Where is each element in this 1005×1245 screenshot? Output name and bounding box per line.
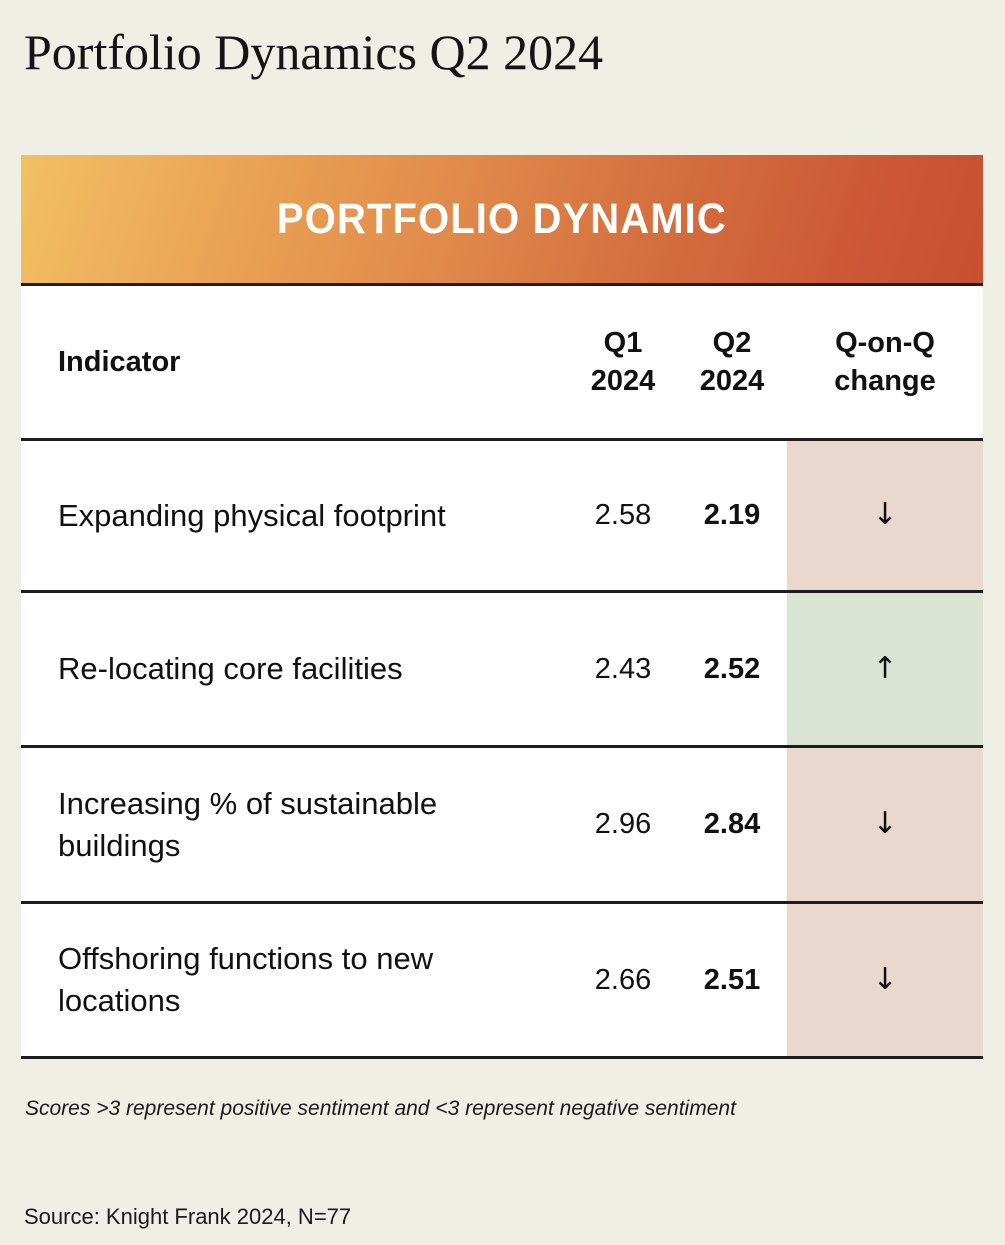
table-body: Expanding physical footprint 2.58 2.19 ↓… (21, 440, 983, 1058)
cell-indicator: Offshoring functions to new locations (21, 903, 569, 1058)
column-header-change-line2: change (787, 362, 983, 400)
column-header-q2-2024: Q2 2024 (677, 286, 787, 440)
column-header-change-line1: Q-on-Q (787, 324, 983, 362)
column-header-q2-line1: Q2 (677, 324, 787, 362)
source-text: Source: Knight Frank 2024, N=77 (24, 1204, 351, 1230)
table-header-row: Indicator Q1 2024 Q2 2024 Q-on-Q change (21, 286, 983, 440)
page-title: Portfolio Dynamics Q2 2024 (24, 22, 603, 82)
cell-qonq-change: ↓ (787, 903, 983, 1058)
cell-qonq-change: ↓ (787, 440, 983, 592)
portfolio-dynamic-table: Indicator Q1 2024 Q2 2024 Q-on-Q change … (21, 286, 983, 1059)
column-header-q2-line2: 2024 (677, 362, 787, 400)
cell-q2-2024: 2.51 (677, 903, 787, 1058)
table-row: Re-locating core facilities 2.43 2.52 ↑ (21, 592, 983, 747)
cell-q2-2024: 2.19 (677, 440, 787, 592)
column-header-q1-line1: Q1 (569, 324, 677, 362)
banner-title: PORTFOLIO DYNAMIC (277, 195, 727, 244)
arrow-down-icon: ↓ (872, 965, 897, 995)
column-header-qonq-change: Q-on-Q change (787, 286, 983, 440)
portfolio-dynamic-table-container: PORTFOLIO DYNAMIC Indicator Q1 2024 Q2 2… (21, 155, 983, 1059)
column-header-q1-line2: 2024 (569, 362, 677, 400)
cell-q2-2024: 2.52 (677, 592, 787, 747)
cell-q1-2024: 2.96 (569, 747, 677, 903)
cell-indicator: Increasing % of sustainable buildings (21, 747, 569, 903)
table-row: Expanding physical footprint 2.58 2.19 ↓ (21, 440, 983, 592)
cell-indicator: Re-locating core facilities (21, 592, 569, 747)
arrow-down-icon: ↓ (872, 500, 897, 530)
column-header-q1-2024: Q1 2024 (569, 286, 677, 440)
cell-q2-2024: 2.84 (677, 747, 787, 903)
table-banner: PORTFOLIO DYNAMIC (21, 155, 983, 286)
cell-q1-2024: 2.66 (569, 903, 677, 1058)
table-row: Increasing % of sustainable buildings 2.… (21, 747, 983, 903)
footnote-text: Scores >3 represent positive sentiment a… (25, 1097, 736, 1121)
cell-qonq-change: ↓ (787, 747, 983, 903)
table-row: Offshoring functions to new locations 2.… (21, 903, 983, 1058)
column-header-indicator: Indicator (21, 286, 569, 440)
cell-q1-2024: 2.43 (569, 592, 677, 747)
table-header: Indicator Q1 2024 Q2 2024 Q-on-Q change (21, 286, 983, 440)
cell-q1-2024: 2.58 (569, 440, 677, 592)
arrow-down-icon: ↓ (872, 809, 897, 839)
cell-indicator: Expanding physical footprint (21, 440, 569, 592)
arrow-up-icon: ↑ (872, 654, 897, 684)
cell-qonq-change: ↑ (787, 592, 983, 747)
